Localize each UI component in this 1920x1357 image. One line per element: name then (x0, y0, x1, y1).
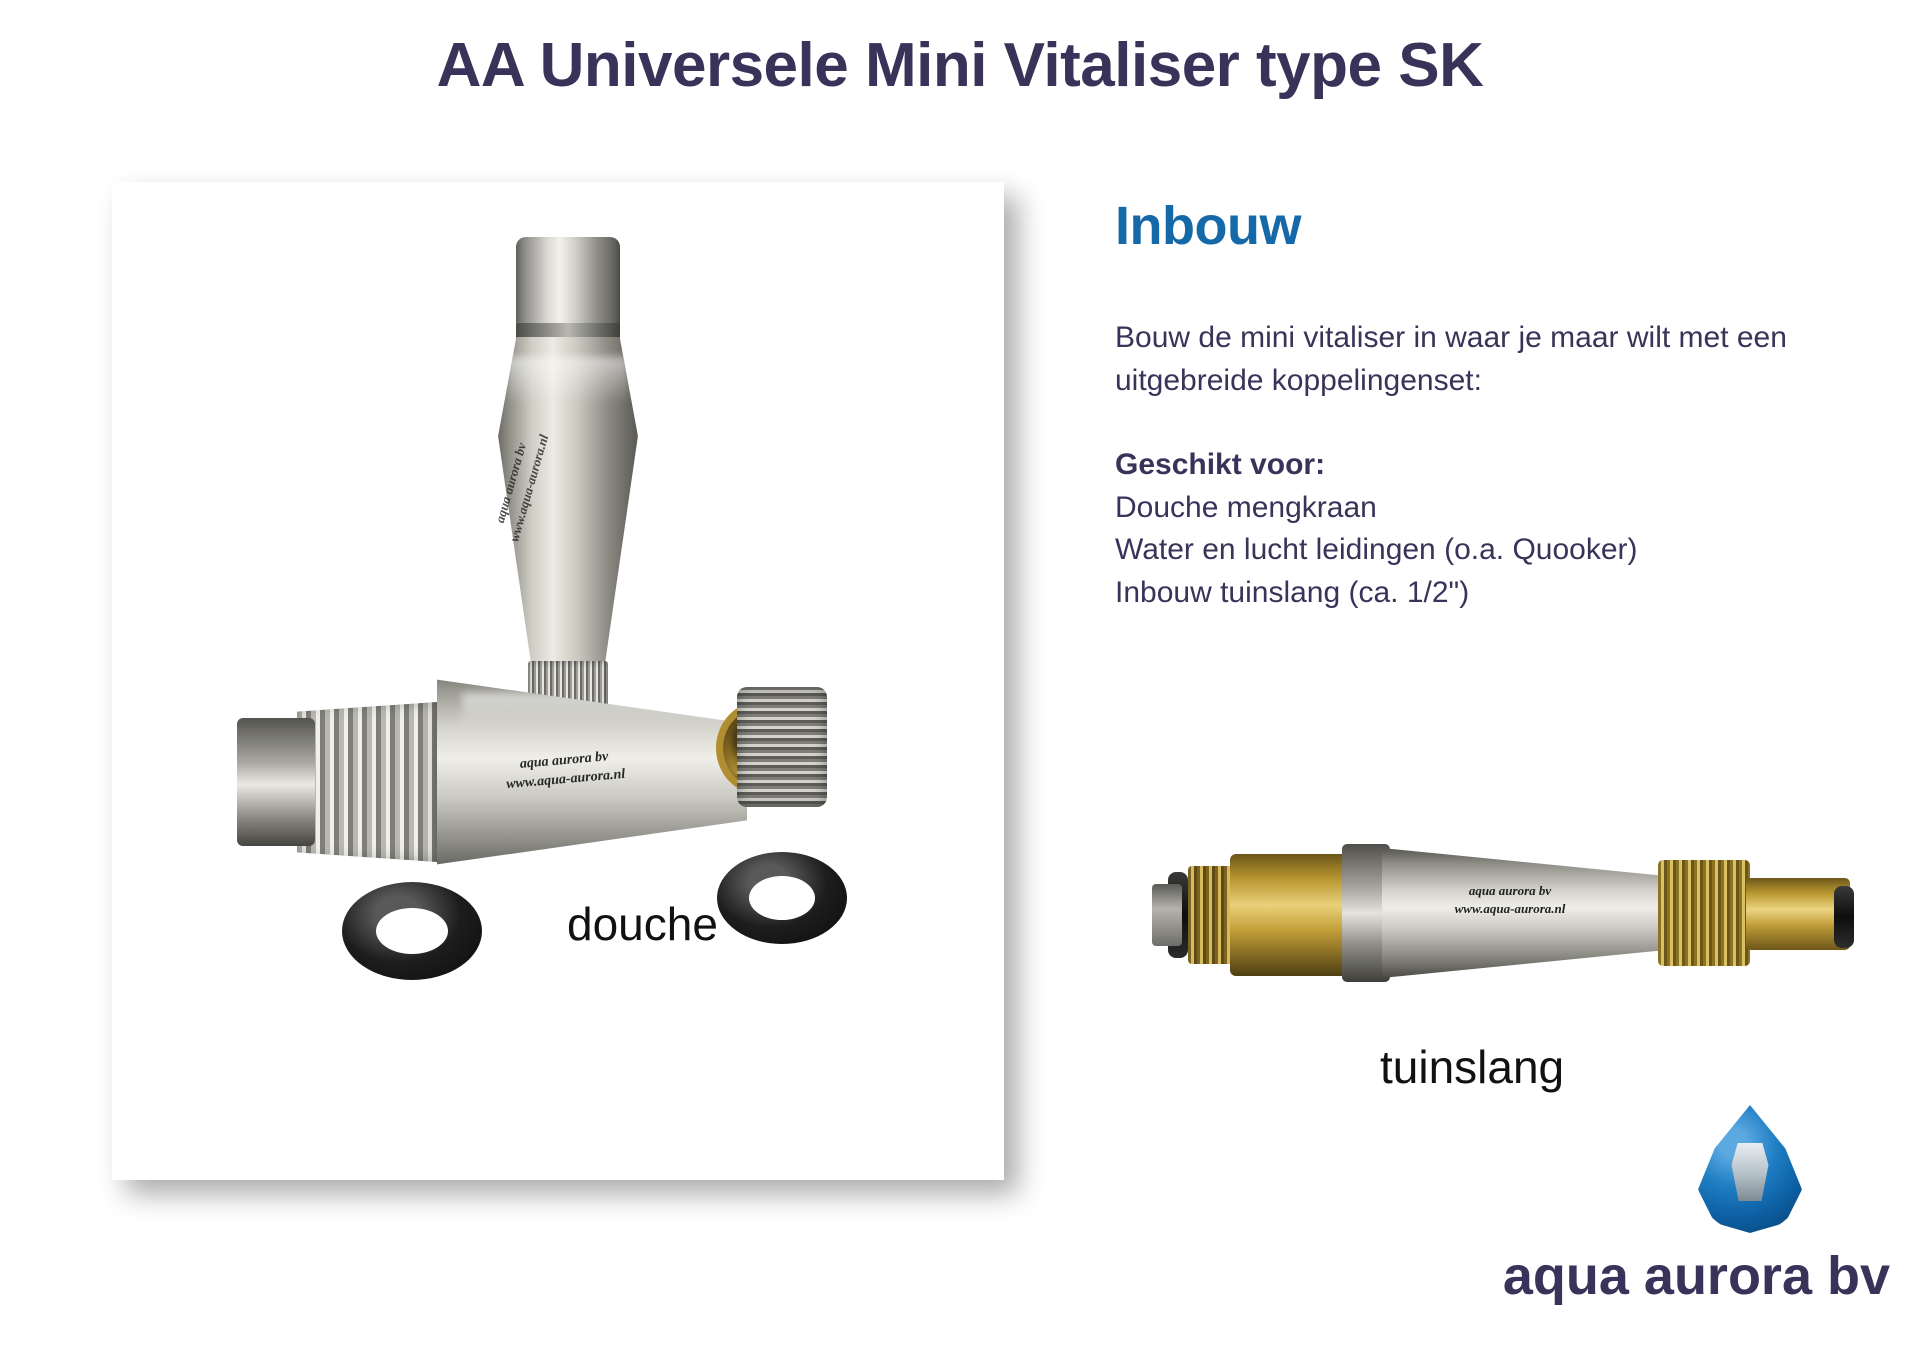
tuinslang-body-marking: aqua aurora bv www.aqua-aurora.nl (1410, 882, 1610, 917)
douche-cap (516, 237, 620, 342)
tuinslang-oring-right (1834, 886, 1854, 948)
tuinslang-brass-knurl-right (1658, 860, 1750, 966)
tuinslang-connector-stub (1152, 884, 1182, 946)
tuinslang-marking-line1: aqua aurora bv (1410, 882, 1610, 900)
product-photo-card: aqua aurora bv www.aqua-aurora.nl douche… (112, 182, 1004, 1180)
rubber-gasket-right (717, 852, 847, 944)
list-item: Inbouw tuinslang (ca. 1/2") (1115, 572, 1875, 615)
product-photo-card-inner: aqua aurora bv www.aqua-aurora.nl douche… (112, 182, 1004, 1180)
rubber-gasket-left (342, 882, 482, 980)
photo-leiding-vitaliser: aqua aurora bv www.aqua-aurora.nl (237, 652, 897, 982)
leiding-knurled-nut (737, 687, 827, 807)
leiding-fitting-hex (237, 718, 315, 846)
company-logo: aqua aurora bv (1620, 1140, 1880, 1330)
tuinslang-marking-line2: www.aqua-aurora.nl (1410, 900, 1610, 918)
tuinslang-brass-coupling (1230, 854, 1352, 976)
leiding-fitting-thread (297, 702, 437, 862)
company-logo-text: aqua aurora bv (1290, 1245, 1890, 1307)
list-item: Water en lucht leidingen (o.a. Quooker) (1115, 529, 1875, 572)
page-title: AA Universele Mini Vitaliser type SK (0, 30, 1920, 101)
caption-tuinslang: tuinslang (1380, 1040, 1564, 1094)
right-text-column: Inbouw Bouw de mini vitaliser in waar je… (1115, 195, 1875, 615)
leiding-brass-fitting (237, 702, 437, 862)
poster-page: AA Universele Mini Vitaliser type SK aqu… (0, 0, 1920, 1357)
intro-paragraph: Bouw de mini vitaliser in waar je maar w… (1115, 317, 1875, 402)
section-heading-inbouw: Inbouw (1115, 195, 1875, 257)
list-heading: Geschikt voor: (1115, 444, 1875, 487)
photo-tuinslang-assembly: aqua aurora bv www.aqua-aurora.nl (1110, 820, 1870, 1010)
list-item: Douche mengkraan (1115, 487, 1875, 530)
water-drop-icon (1698, 1105, 1802, 1233)
